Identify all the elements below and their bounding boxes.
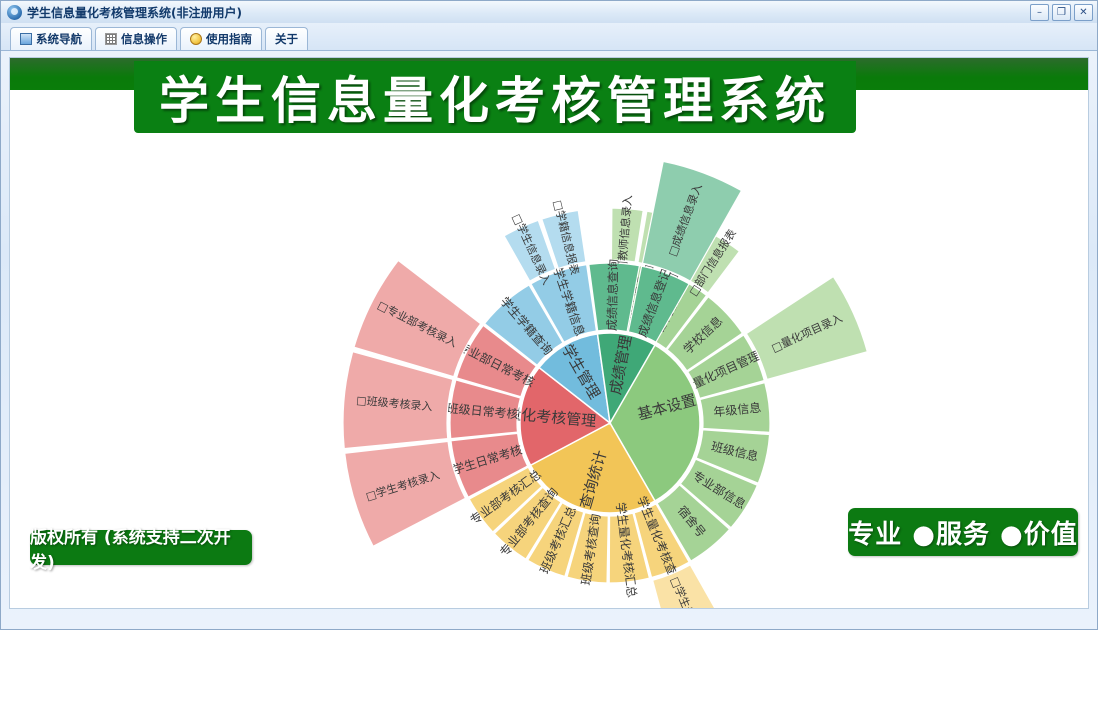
close-button[interactable]: ✕ (1074, 4, 1093, 21)
grid-icon (105, 33, 117, 45)
copyright-badge: 版权所有 (系统支持二次开发) (30, 530, 252, 565)
page-title: 学生信息量化考核管理系统 (159, 61, 831, 133)
guide-icon (190, 33, 202, 45)
minimize-button[interactable]: – (1030, 4, 1049, 21)
restore-button[interactable]: ❐ (1052, 4, 1071, 21)
tab-user-guide[interactable]: 使用指南 (180, 27, 262, 50)
tab-label: 系统导航 (36, 31, 82, 47)
title-bar: 学生信息量化考核管理系统(非注册用户) – ❐ ✕ (1, 1, 1097, 24)
application-window: 学生信息量化考核管理系统(非注册用户) – ❐ ✕ 系统导航 信息操作 使用指南… (0, 0, 1098, 630)
window-controls: – ❐ ✕ (1030, 4, 1093, 21)
tab-about[interactable]: 关于 (265, 27, 308, 50)
sunburst-mid-label: 成绩信息查询 (604, 259, 621, 331)
app-globe-icon (7, 5, 22, 20)
window-title: 学生信息量化考核管理系统(非注册用户) (27, 4, 242, 21)
banner-box: 学生信息量化考核管理系统 (134, 61, 856, 133)
tab-info-operations[interactable]: 信息操作 (95, 27, 177, 50)
tab-system-navigation[interactable]: 系统导航 (10, 27, 92, 50)
tab-label: 使用指南 (206, 31, 252, 47)
slogan-badge: 专业 ●服务 ●价值 (848, 508, 1078, 556)
navigation-icon (20, 33, 32, 45)
tab-strip: 系统导航 信息操作 使用指南 关于 (1, 23, 1097, 51)
client-panel: 基本设置教师信息□教师信息录入□教师信息报表部门信息□部门信息录入□部门信息报表… (9, 57, 1089, 609)
sunburst-leaf-2-0-0[interactable] (345, 441, 466, 546)
tab-label: 信息操作 (121, 31, 167, 47)
tab-label: 关于 (275, 31, 298, 47)
